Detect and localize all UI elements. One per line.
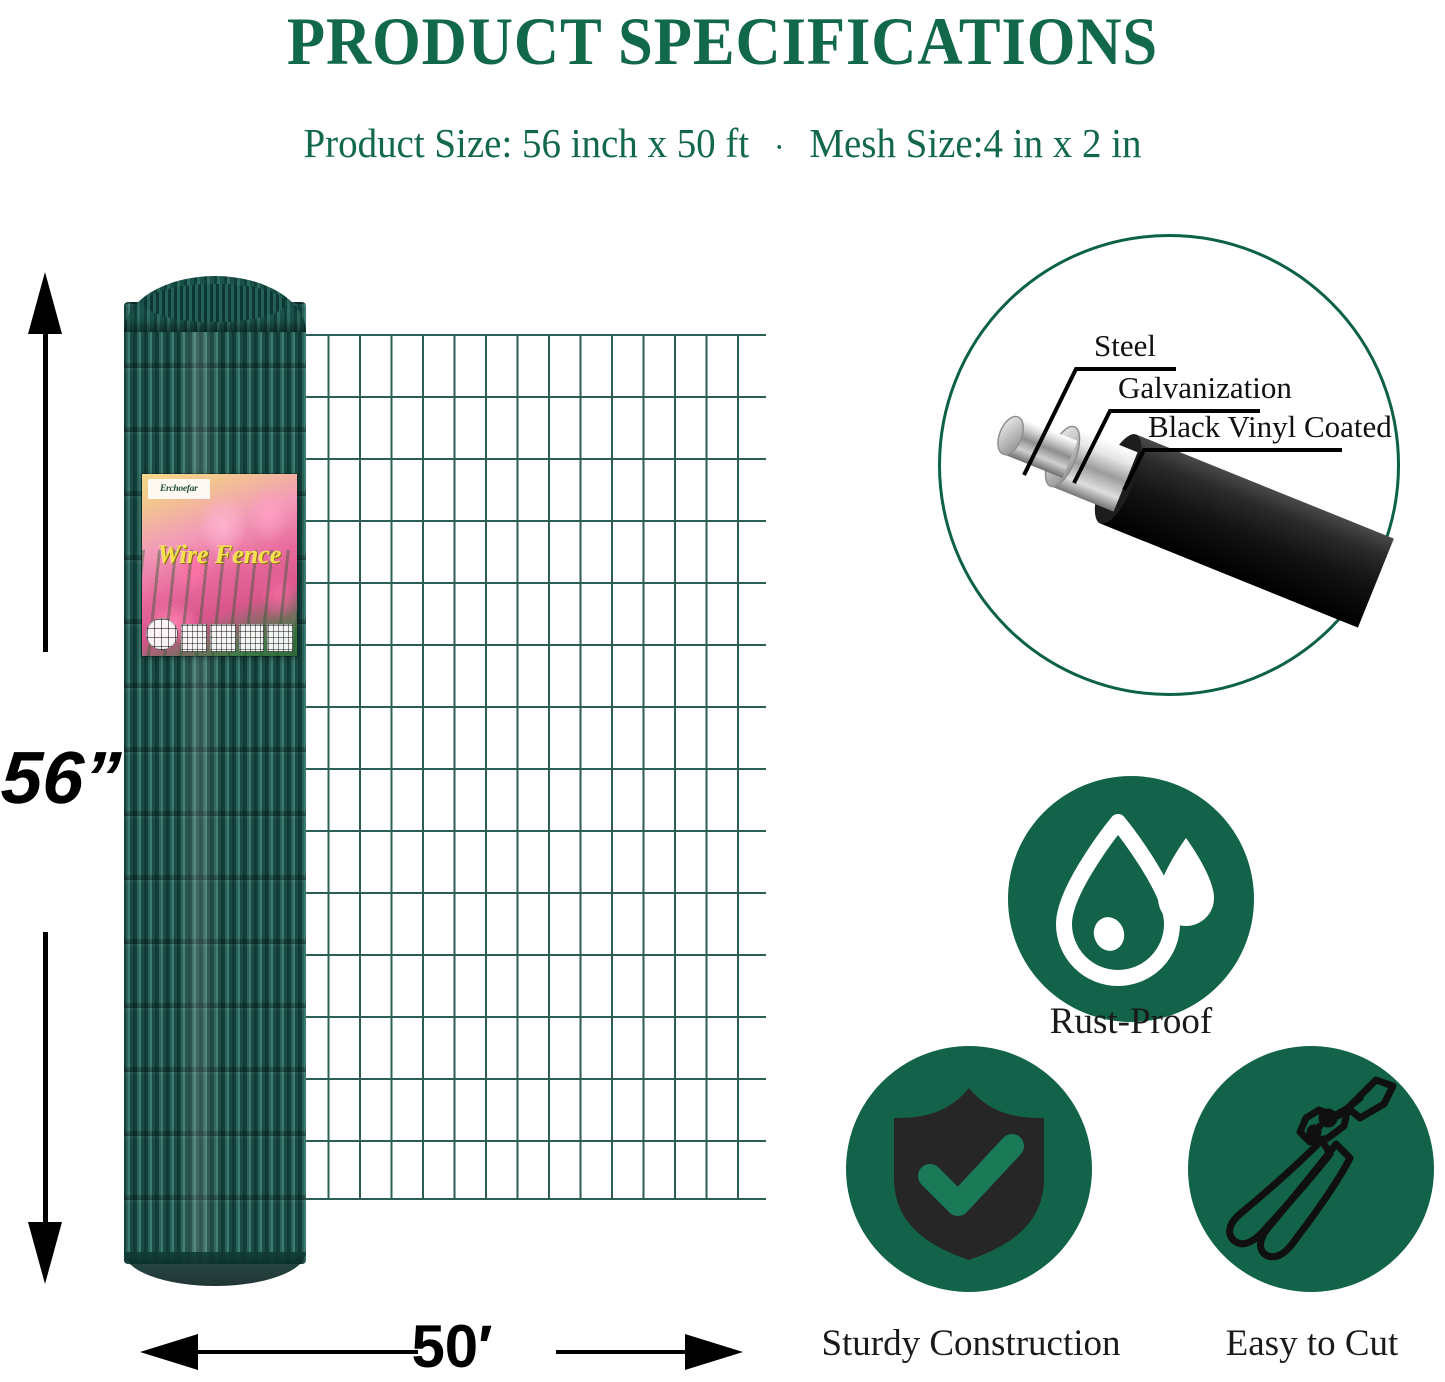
pliers-outline [1230, 1080, 1393, 1257]
label-spec-box [239, 624, 265, 652]
roll-top-inner-ellipse [144, 284, 286, 322]
pliers-handle-left [1230, 1140, 1330, 1244]
page-title: PRODUCT SPECIFICATIONS [58, 2, 1387, 80]
product-label: Erchoefar Wire Fence [142, 474, 297, 656]
spec-product-size: Product Size: 56 inch x 50 ft [303, 120, 749, 166]
shield-check-icon [846, 1046, 1092, 1292]
width-dimension-label: 50′ [392, 1312, 512, 1382]
vinyl-layer [1100, 434, 1394, 627]
brand-logo: Erchoefar [148, 479, 210, 499]
feature-label-sturdy-construction: Sturdy Construction [806, 1322, 1136, 1366]
wire-fence-roll [124, 276, 306, 1286]
feature-label-rust-proof: Rust-Proof [1008, 1000, 1254, 1044]
height-dimension-label: 56” [0, 738, 128, 818]
shield-shape [894, 1088, 1044, 1260]
roll-bottom-cap [124, 1252, 306, 1286]
arrow-head-down-icon [28, 1222, 62, 1284]
feature-label-easy-to-cut: Easy to Cut [1212, 1322, 1412, 1366]
water-drop-icon [1008, 776, 1254, 1022]
wire-label-galvanization: Galvanization [1118, 370, 1292, 405]
arrow-shaft-left [178, 1350, 418, 1354]
spec-subtitle: Product Size: 56 inch x 50 ft·Mesh Size:… [36, 116, 1409, 175]
roll-body [124, 302, 306, 1264]
feature-badge-sturdy-construction[interactable] [846, 1046, 1092, 1292]
label-title-text: Wire Fence [142, 540, 297, 570]
feature-badge-easy-to-cut[interactable] [1188, 1046, 1434, 1292]
wire-label-steel: Steel [1094, 328, 1156, 363]
wire-cutaway-diagram: Steel Galvanization Black Vinyl Coated [938, 234, 1394, 690]
label-spec-box [267, 624, 293, 652]
spec-separator: · [749, 121, 809, 175]
arrow-shaft-upper [43, 328, 48, 652]
drop-outline [1064, 822, 1172, 978]
brand-logo-text: Erchoefar [160, 484, 198, 494]
arrow-shaft-right [556, 1350, 706, 1354]
arrow-head-up-icon [28, 272, 62, 334]
label-spec-box [181, 624, 207, 652]
spec-mesh-size: Mesh Size:4 in x 2 in [809, 120, 1141, 166]
arrow-shaft-lower [43, 932, 48, 1226]
pliers-pivot [1322, 1112, 1334, 1124]
label-spec-boxes [146, 618, 293, 652]
arrow-head-right-icon [685, 1334, 743, 1370]
small-drop [1158, 838, 1214, 926]
pliers-icon [1188, 1046, 1434, 1292]
label-spec-box [210, 624, 236, 652]
label-spec-circle [146, 618, 178, 650]
feature-badge-rust-proof[interactable] [1008, 776, 1254, 1022]
wire-label-vinyl: Black Vinyl Coated [1148, 409, 1392, 444]
wire-mesh-sheet [296, 334, 766, 1200]
drop-inner-dot [1089, 913, 1128, 955]
